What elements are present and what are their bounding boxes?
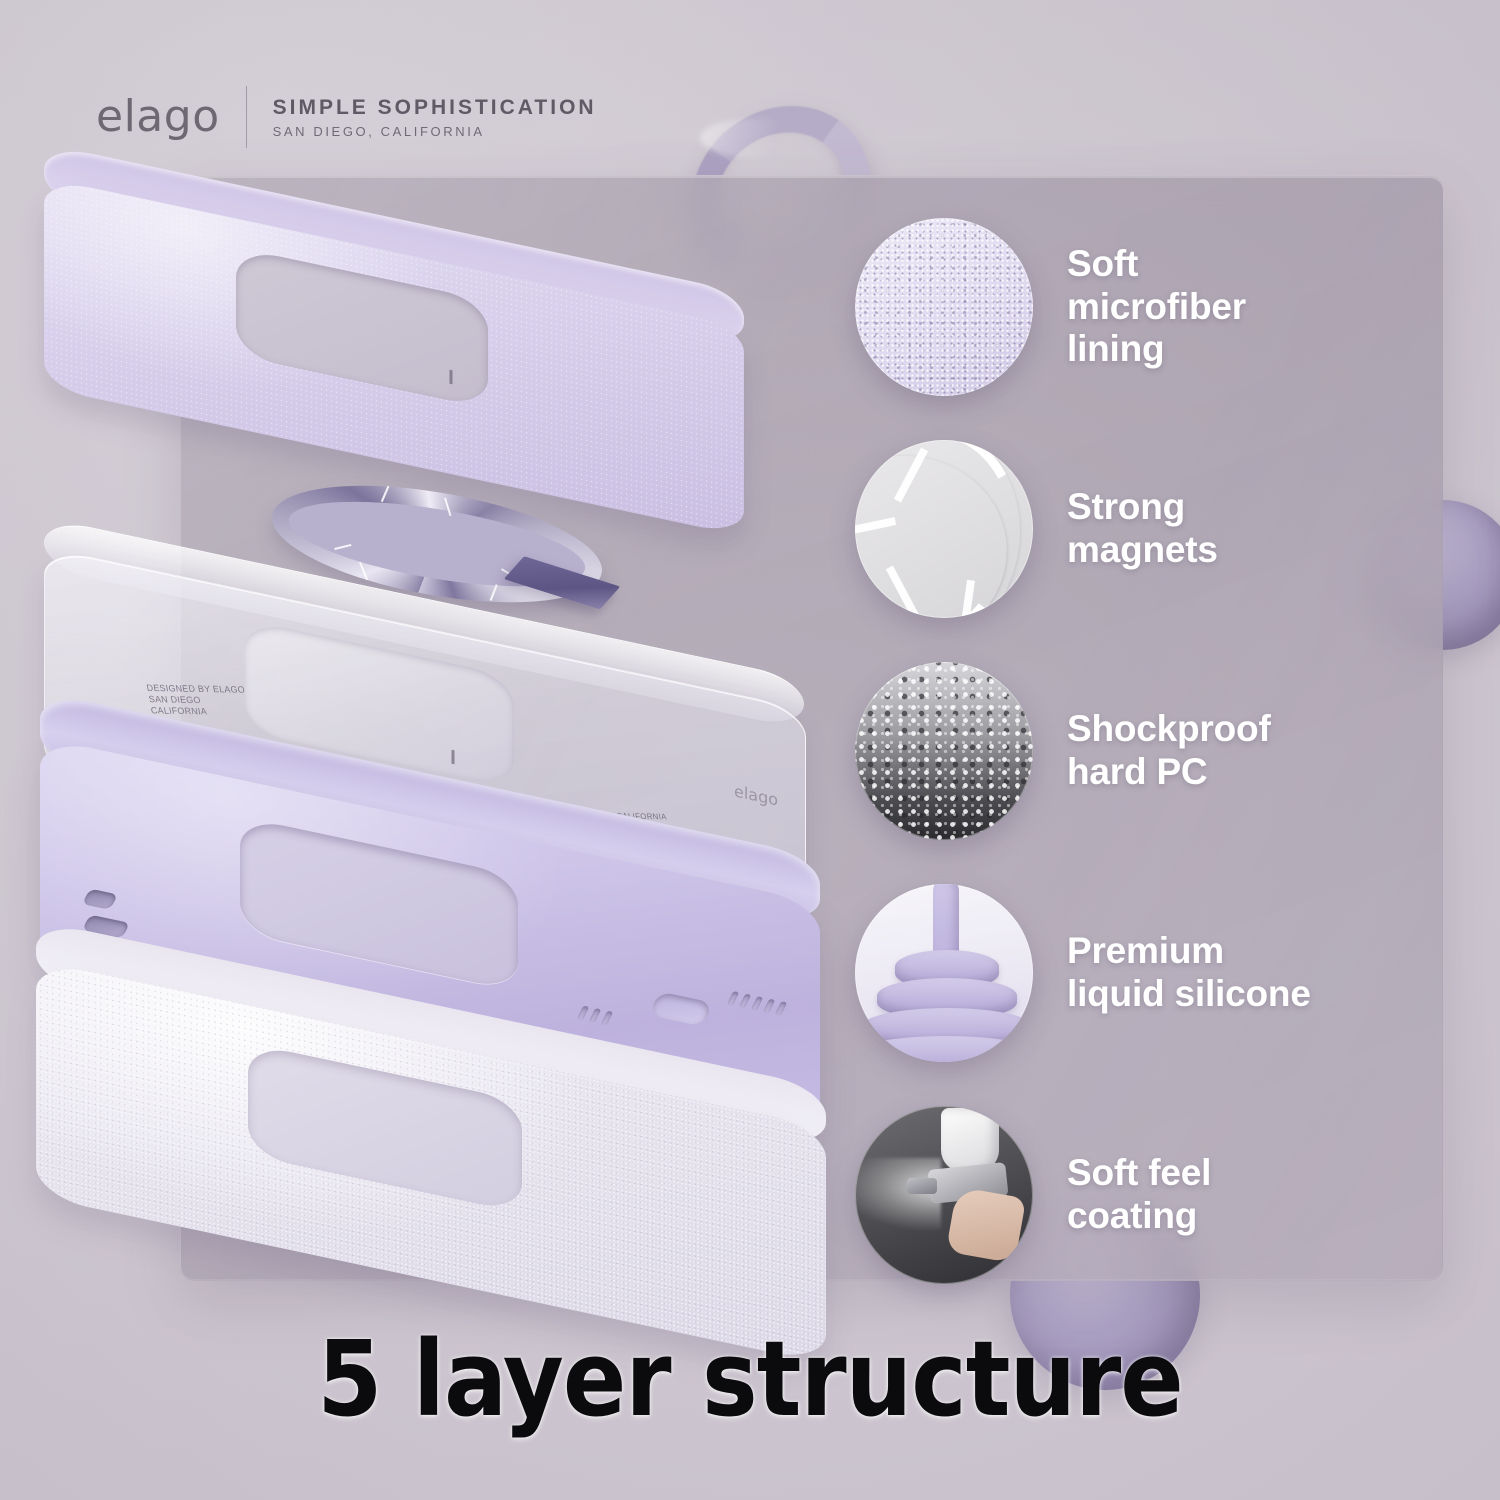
feature-label: Soft feel coating (1067, 1152, 1211, 1238)
microfiber-texture-thumb (855, 218, 1033, 396)
brand-header: elago SIMPLE SOPHISTICATION SAN DIEGO, C… (96, 86, 597, 148)
feature-label: Strong magnets (1067, 486, 1218, 572)
silicone-coil (855, 1036, 1033, 1062)
magnet-ring-thumb (855, 440, 1033, 618)
infographic-canvas: elago SIMPLE SOPHISTICATION SAN DIEGO, C… (0, 0, 1500, 1500)
magnet-arc-group (855, 440, 1033, 618)
spray-gun-nozzle (907, 1178, 937, 1194)
silicone-swirl-thumb (855, 884, 1033, 1062)
pc-granules-thumb (855, 662, 1033, 840)
brand-tagline: SIMPLE SOPHISTICATION (273, 97, 597, 118)
brand-tagline-block: SIMPLE SOPHISTICATION SAN DIEGO, CALIFOR… (273, 97, 597, 138)
feature-item-soft-feel-coating: Soft feel coating (855, 1106, 1211, 1284)
feature-item-strong-magnets: Strong magnets (855, 440, 1218, 618)
spray-gun-cup (941, 1108, 999, 1172)
brand-logo: elago (96, 95, 220, 139)
page-headline: 5 layer structure (0, 1318, 1500, 1440)
header-divider (246, 86, 247, 148)
feature-label: Soft microfiber lining (1067, 243, 1246, 372)
layer-soft-feel-coating (36, 1044, 826, 1280)
feature-item-soft-microfiber-lining: Soft microfiber lining (855, 218, 1246, 396)
brand-location: SAN DIEGO, CALIFORNIA (273, 125, 597, 138)
feature-label: Shockproof hard PC (1067, 708, 1271, 794)
spray-mist (855, 1158, 941, 1230)
feature-label: Premium liquid silicone (1067, 930, 1311, 1016)
feature-item-premium-liquid-silicone: Premium liquid silicone (855, 884, 1311, 1062)
layer-microfiber-lining (44, 252, 744, 462)
feature-item-shockproof-hard-pc: Shockproof hard PC (855, 662, 1271, 840)
spray-gun-thumb (855, 1106, 1033, 1284)
shell-marking-left: DESIGNED BY ELAGO SAN DIEGO CALIFORNIA (146, 683, 250, 719)
